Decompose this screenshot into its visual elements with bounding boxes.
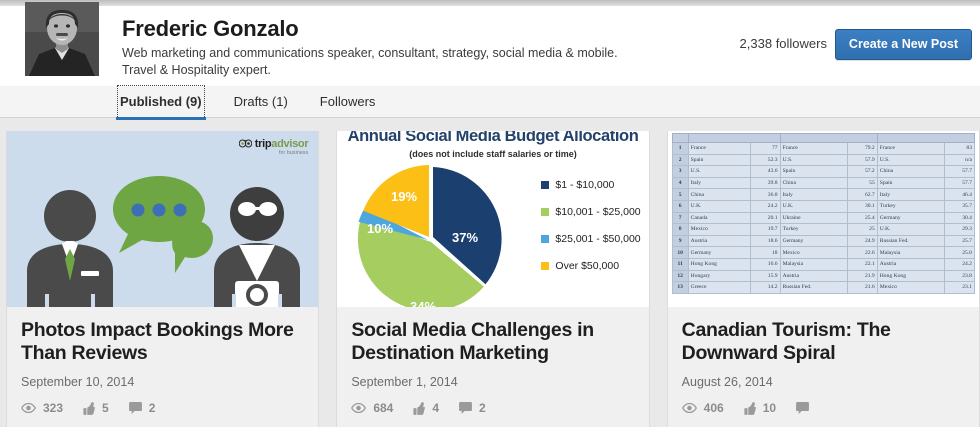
rank-cell: 12 xyxy=(672,270,688,282)
table-row: 13Greece14.2Russian Fed.21.6Mexico23.1 xyxy=(672,282,974,294)
value-cell: 14.2 xyxy=(751,282,781,294)
rank-cell: 7 xyxy=(672,212,688,224)
country-cell: Spain xyxy=(877,177,945,189)
value-cell: 29.3 xyxy=(945,224,975,236)
table-row: 3U.S.43.6Spain57.2China57.7 xyxy=(672,166,974,178)
value-cell: 25.0 xyxy=(945,247,975,259)
country-cell: France xyxy=(877,143,945,155)
thumbs-up-icon xyxy=(83,402,95,415)
th-rank xyxy=(672,134,688,143)
views-count: 406 xyxy=(704,401,724,415)
table-row: 8Mexico19.7Turkey25U.K.29.3 xyxy=(672,224,974,236)
country-cell: Hong Kong xyxy=(688,258,750,270)
post-stats: 406 10 xyxy=(682,401,836,415)
value-cell: 79.2 xyxy=(848,143,878,155)
value-cell: 39.8 xyxy=(751,177,781,189)
comment-bubble-icon xyxy=(796,402,809,414)
value-cell: 62.7 xyxy=(848,189,878,201)
views-count: 323 xyxy=(43,401,63,415)
svg-text:37%: 37% xyxy=(452,230,478,245)
country-cell: Malaysia xyxy=(780,258,848,270)
avatar[interactable] xyxy=(25,2,99,76)
value-cell: 83 xyxy=(945,143,975,155)
table-row: 12Hungary15.9Austria21.9Hong Kong23.8 xyxy=(672,270,974,282)
views-stat: 684 xyxy=(351,401,393,415)
value-cell: 25.7 xyxy=(945,235,975,247)
chart-subtitle: (does not include staff salaries or time… xyxy=(337,149,648,159)
value-cell: 57.7 xyxy=(945,177,975,189)
value-cell: 57.2 xyxy=(848,166,878,178)
country-cell: Mexico xyxy=(780,247,848,259)
rank-cell: 4 xyxy=(672,177,688,189)
thumbs-up-icon xyxy=(413,402,425,415)
value-cell: 20.1 xyxy=(751,212,781,224)
value-cell: 52.3 xyxy=(751,154,781,166)
country-cell: U.K. xyxy=(780,200,848,212)
thumbs-up-icon xyxy=(744,402,756,415)
post-body: Social Media Challenges in Destination M… xyxy=(337,307,648,389)
value-cell: 16.6 xyxy=(751,258,781,270)
tab-list: Published (9) Drafts (1) Followers xyxy=(118,86,405,118)
followers-count: 2,338 followers xyxy=(740,36,827,51)
svg-text:19%: 19% xyxy=(391,189,417,204)
value-cell: 15.9 xyxy=(751,270,781,282)
comments-count: 2 xyxy=(479,401,486,415)
table-row: 11Hong Kong16.6Malaysia22.1Austria24.2 xyxy=(672,258,974,270)
country-cell: Spain xyxy=(688,154,750,166)
country-cell: Turkey xyxy=(877,200,945,212)
table-head xyxy=(672,134,974,143)
people-chat-illustration xyxy=(7,131,318,307)
tripadvisor-illustration: tripadvisor for business xyxy=(7,131,318,307)
country-cell: U.K. xyxy=(688,200,750,212)
legend-label: Over $50,000 xyxy=(555,260,619,272)
eye-icon xyxy=(682,403,697,413)
post-title[interactable]: Photos Impact Bookings More Than Reviews xyxy=(21,319,304,365)
rank-cell: 5 xyxy=(672,189,688,201)
value-cell: 21.9 xyxy=(848,270,878,282)
comment-bubble-icon xyxy=(129,402,142,414)
value-cell: 18.6 xyxy=(751,235,781,247)
post-card-grid: tripadvisor for business xyxy=(6,131,980,427)
likes-stat: 10 xyxy=(744,401,776,415)
legend-swatch xyxy=(541,208,549,216)
country-cell: Italy xyxy=(780,189,848,201)
value-cell: 24.2 xyxy=(751,200,781,212)
views-count: 684 xyxy=(373,401,393,415)
comments-stat: 2 xyxy=(129,401,156,415)
value-cell: 57.9 xyxy=(848,154,878,166)
country-cell: Russian Fed. xyxy=(780,282,848,294)
legend-swatch xyxy=(541,181,549,189)
value-cell: 77 xyxy=(751,143,781,155)
profile-header: Frederic Gonzalo Web marketing and commu… xyxy=(0,6,980,86)
rank-cell: 13 xyxy=(672,282,688,294)
country-cell: Austria xyxy=(780,270,848,282)
comment-bubble-icon xyxy=(459,402,472,414)
views-stat: 323 xyxy=(21,401,63,415)
country-cell: Spain xyxy=(780,166,848,178)
country-cell: Mexico xyxy=(877,282,945,294)
value-cell: 18 xyxy=(751,247,781,259)
svg-text:10%: 10% xyxy=(367,221,393,236)
post-card[interactable]: 1France77France79.2France832Spain52.3U.S… xyxy=(667,131,980,427)
country-cell: U.S. xyxy=(877,154,945,166)
value-cell: 30.4 xyxy=(945,212,975,224)
tab-bar: Published (9) Drafts (1) Followers xyxy=(0,86,980,118)
country-cell: Austria xyxy=(877,258,945,270)
value-cell: 30.1 xyxy=(848,200,878,212)
comments-stat: 2 xyxy=(459,401,486,415)
country-cell: U.S. xyxy=(780,154,848,166)
comments-stat xyxy=(796,402,816,414)
value-cell: 24.9 xyxy=(848,235,878,247)
value-cell: 55 xyxy=(848,177,878,189)
post-card[interactable]: Annual Social Media Budget Allocation (d… xyxy=(336,131,649,427)
country-cell: Malaysia xyxy=(877,247,945,259)
th-group-3 xyxy=(877,134,974,143)
table-body: 1France77France79.2France832Spain52.3U.S… xyxy=(672,143,974,294)
country-cell: Greece xyxy=(688,282,750,294)
profile-description-line-1: Web marketing and communications speaker… xyxy=(122,45,682,62)
value-cell: 22.6 xyxy=(848,247,878,259)
value-cell: 23.8 xyxy=(945,270,975,282)
post-thumbnail[interactable]: tripadvisor for business xyxy=(7,131,318,307)
chart-legend: $1 - $10,000 $10,001 - $25,000 $25,001 -… xyxy=(541,179,640,287)
country-cell: Italy xyxy=(877,189,945,201)
tab-drafts[interactable]: Drafts (1) xyxy=(232,86,290,118)
value-cell: 25.4 xyxy=(848,212,878,224)
country-cell: Russian Fed. xyxy=(877,235,945,247)
eye-icon xyxy=(351,403,366,413)
country-cell: France xyxy=(780,143,848,155)
create-new-post-button[interactable]: Create a New Post xyxy=(835,29,972,60)
legend-item: $1 - $10,000 xyxy=(541,179,640,191)
table-row: 5China36.8Italy62.7Italy46.4 xyxy=(672,189,974,201)
rank-cell: 2 xyxy=(672,154,688,166)
country-cell: Ukraine xyxy=(780,212,848,224)
country-cell: Turkey xyxy=(780,224,848,236)
country-cell: Mexico xyxy=(688,224,750,236)
table-header-row xyxy=(672,134,974,143)
value-cell: 25 xyxy=(848,224,878,236)
legend-item: Over $50,000 xyxy=(541,260,640,272)
table-row: 2Spain52.3U.S.57.9U.S.n/a xyxy=(672,154,974,166)
value-cell: 57.7 xyxy=(945,166,975,178)
country-cell: Germany xyxy=(780,235,848,247)
country-cell: Austria xyxy=(688,235,750,247)
country-cell: Canada xyxy=(688,212,750,224)
post-stats: 684 4 2 xyxy=(351,401,505,415)
post-body: Photos Impact Bookings More Than Reviews… xyxy=(7,307,318,389)
rank-cell: 3 xyxy=(672,166,688,178)
post-thumbnail[interactable]: 1France77France79.2France832Spain52.3U.S… xyxy=(668,131,979,307)
country-rank-table: 1France77France79.2France832Spain52.3U.S… xyxy=(672,133,975,294)
country-cell: Hungary xyxy=(688,270,750,282)
pie-chart-graphic: 37% 34% 10% 19% xyxy=(337,163,533,307)
table-row: 1France77France79.2France83 xyxy=(672,143,974,155)
rank-cell: 1 xyxy=(672,143,688,155)
legend-item: $25,001 - $50,000 xyxy=(541,233,640,245)
likes-stat: 4 xyxy=(413,401,439,415)
country-cell: U.S. xyxy=(688,166,750,178)
th-group-2 xyxy=(780,134,877,143)
table-row: 10Germany18Mexico22.6Malaysia25.0 xyxy=(672,247,974,259)
value-cell: 46.4 xyxy=(945,189,975,201)
post-date: September 10, 2014 xyxy=(21,375,304,389)
rank-table-image: 1France77France79.2France832Spain52.3U.S… xyxy=(668,131,979,307)
rank-cell: 10 xyxy=(672,247,688,259)
comments-count: 2 xyxy=(149,401,156,415)
post-date: August 26, 2014 xyxy=(682,375,965,389)
table-row: 4Italy39.8China55Spain57.7 xyxy=(672,177,974,189)
value-cell: n/a xyxy=(945,154,975,166)
value-cell: 24.2 xyxy=(945,258,975,270)
country-cell: Germany xyxy=(688,247,750,259)
rank-cell: 8 xyxy=(672,224,688,236)
th-group-1 xyxy=(688,134,780,143)
table-row: 7Canada20.1Ukraine25.4Germany30.4 xyxy=(672,212,974,224)
profile-name: Frederic Gonzalo xyxy=(122,16,682,42)
views-stat: 406 xyxy=(682,401,724,415)
table-row: 9Austria18.6Germany24.9Russian Fed.25.7 xyxy=(672,235,974,247)
table-row: 6U.K.24.2U.K.30.1Turkey35.7 xyxy=(672,200,974,212)
post-title[interactable]: Social Media Challenges in Destination M… xyxy=(351,319,634,365)
post-thumbnail[interactable]: Annual Social Media Budget Allocation (d… xyxy=(337,131,648,307)
likes-stat: 5 xyxy=(83,401,109,415)
country-cell: China xyxy=(877,166,945,178)
value-cell: 21.6 xyxy=(848,282,878,294)
legend-item: $10,001 - $25,000 xyxy=(541,206,640,218)
chart-title: Annual Social Media Budget Allocation xyxy=(337,131,648,146)
tab-published[interactable]: Published (9) xyxy=(118,86,204,118)
country-cell: China xyxy=(780,177,848,189)
legend-swatch xyxy=(541,235,549,243)
profile-description-line-2: Travel & Hospitality expert. xyxy=(122,62,682,79)
country-cell: Hong Kong xyxy=(877,270,945,282)
value-cell: 36.8 xyxy=(751,189,781,201)
country-cell: France xyxy=(688,143,750,155)
profile-info: Frederic Gonzalo Web marketing and commu… xyxy=(122,16,682,79)
country-cell: Italy xyxy=(688,177,750,189)
country-cell: U.K. xyxy=(877,224,945,236)
likes-count: 5 xyxy=(102,401,109,415)
value-cell: 19.7 xyxy=(751,224,781,236)
pie-chart-image: Annual Social Media Budget Allocation (d… xyxy=(337,131,648,307)
rank-cell: 6 xyxy=(672,200,688,212)
country-cell: China xyxy=(688,189,750,201)
legend-label: $25,001 - $50,000 xyxy=(555,233,640,245)
post-title[interactable]: Canadian Tourism: The Downward Spiral xyxy=(682,319,965,365)
post-card[interactable]: tripadvisor for business xyxy=(6,131,319,427)
likes-count: 4 xyxy=(432,401,439,415)
value-cell: 23.1 xyxy=(945,282,975,294)
legend-label: $1 - $10,000 xyxy=(555,179,614,191)
eye-icon xyxy=(21,403,36,413)
tab-followers[interactable]: Followers xyxy=(318,86,378,118)
value-cell: 43.6 xyxy=(751,166,781,178)
post-stats: 323 5 2 xyxy=(21,401,175,415)
rank-cell: 11 xyxy=(672,258,688,270)
value-cell: 35.7 xyxy=(945,200,975,212)
likes-count: 10 xyxy=(763,401,776,415)
post-body: Canadian Tourism: The Downward Spiral Au… xyxy=(668,307,979,389)
post-date: September 1, 2014 xyxy=(351,375,634,389)
legend-swatch xyxy=(541,262,549,270)
rank-cell: 9 xyxy=(672,235,688,247)
value-cell: 22.1 xyxy=(848,258,878,270)
legend-label: $10,001 - $25,000 xyxy=(555,206,640,218)
svg-text:34%: 34% xyxy=(410,299,436,307)
country-cell: Germany xyxy=(877,212,945,224)
